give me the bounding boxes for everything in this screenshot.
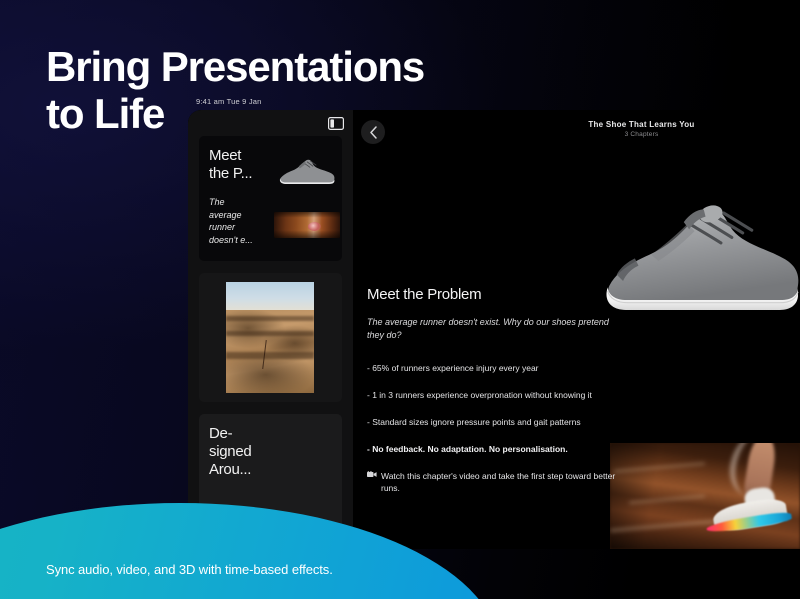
grey-running-shoe-render [596,184,800,329]
slide-text-block: Meet the Problem The average runner does… [367,286,619,494]
slide-heading: Meet the Problem [367,286,619,303]
video-camera-icon [367,471,377,494]
slide-video-note-text: Watch this chapter's video and take the … [381,471,619,494]
screenshot-root: Bring Presentations to Life 9:41 am Tue … [0,0,800,599]
slide-bullet: - Standard sizes ignore pressure points … [367,417,619,428]
slide-bullet: - 65% of runners experience injury every… [367,363,619,374]
slide-bullet: - No feedback. No adaptation. No persona… [367,444,619,455]
deck-title: The Shoe That Learns You [483,120,800,129]
list-item[interactable]: Meet the P... The average runner doesn't… [199,136,342,261]
runner-strip-thumbnail [274,212,340,238]
list-item-title: De- signed Arou... [209,425,251,479]
footer-caption: Sync audio, video, and 3D with time-base… [46,562,333,577]
deck-chapter-count: 3 Chapters [483,131,800,138]
app-window: Meet the P... The average runner doesn't… [188,110,800,549]
list-item-subtitle: The average runner doesn't e... [209,196,253,246]
slide-video-note: Watch this chapter's video and take the … [367,471,619,494]
tablet-device: 9:41 am Tue 9 Jan [188,97,800,549]
slide-canvas: The Shoe That Learns You 3 Chapters [353,110,800,549]
slide-bullet: - 1 in 3 runners experience overpronatio… [367,390,619,401]
slide-lede: The average runner doesn't exist. Why do… [367,316,619,341]
running-shoe-thumbnail-icon [276,149,338,191]
motion-blur-runner-foot-photo [610,443,800,549]
list-item-title: Meet the P... [209,147,252,183]
sand-dunes-photo [226,282,314,393]
slide-navigator-sidebar: Meet the P... The average runner doesn't… [188,110,353,549]
hero-title: Bring Presentations to Life [46,43,466,137]
list-item[interactable] [199,273,342,402]
